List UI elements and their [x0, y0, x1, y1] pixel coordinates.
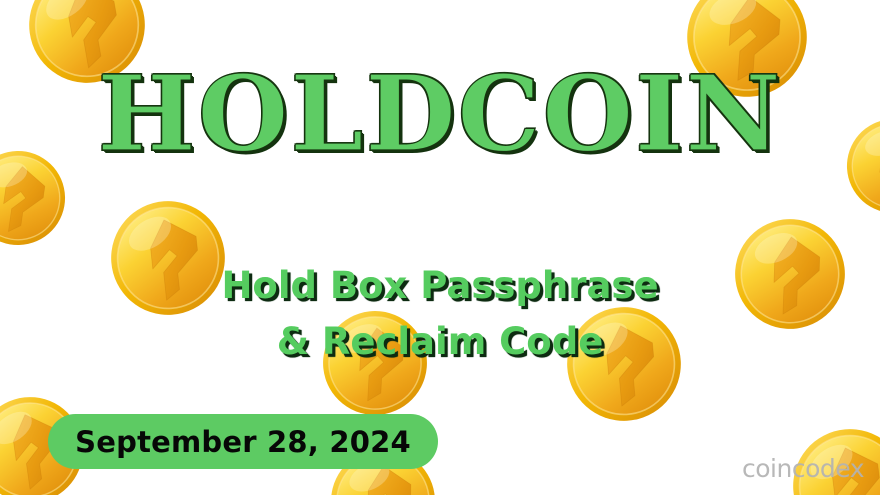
date-badge: September 28, 2024 — [48, 414, 438, 469]
subtitle-line-2: & Reclaim Code — [0, 314, 880, 370]
promo-banner: HOLDCOIN Hold Box Passphrase & Reclaim C… — [0, 0, 880, 495]
date-badge-label: September 28, 2024 — [75, 425, 411, 459]
title-container: HOLDCOIN — [0, 62, 880, 166]
subtitle-container: Hold Box Passphrase & Reclaim Code — [0, 258, 880, 370]
page-title: HOLDCOIN — [97, 62, 782, 166]
subtitle-line-1: Hold Box Passphrase — [0, 258, 880, 314]
coincodex-watermark: coincodex — [742, 454, 864, 483]
